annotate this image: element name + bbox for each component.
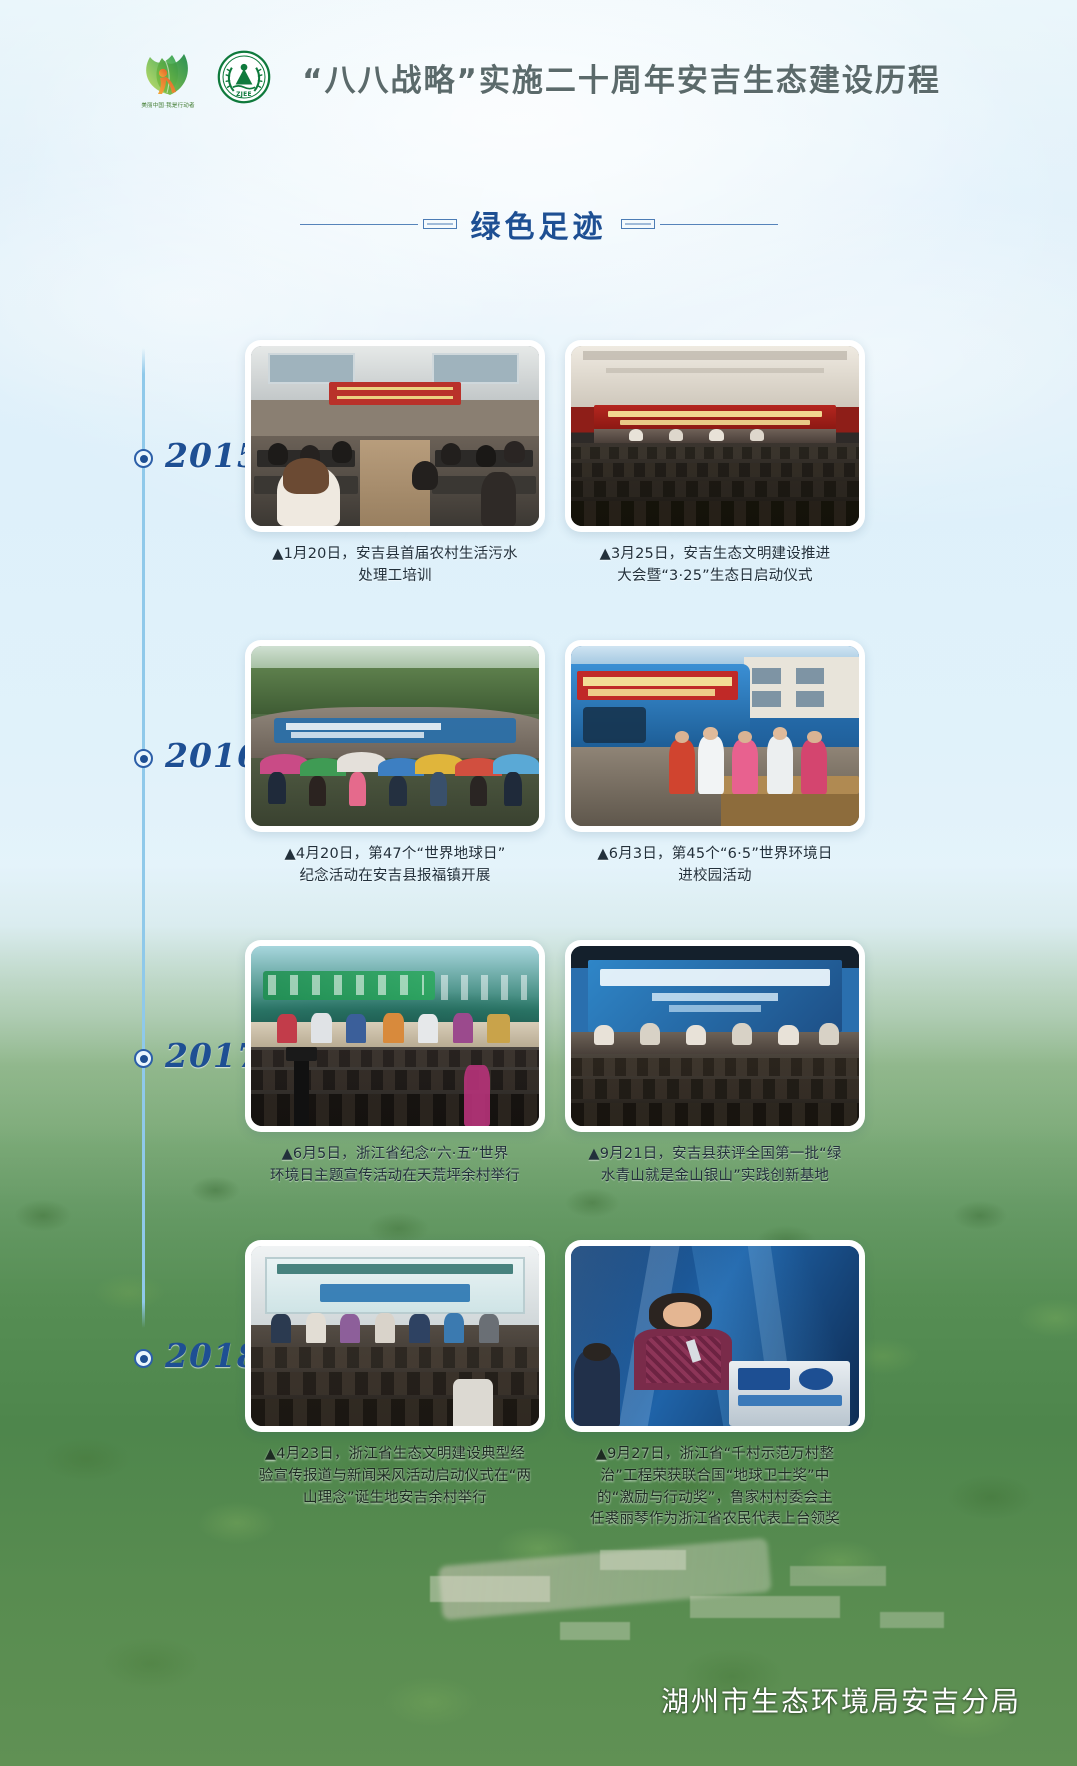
photo-2015-ecocivilization-conference[interactable] [571, 346, 859, 526]
photo-caption: ▲4月20日，第47个“世界地球日” 纪念活动在安吉县报福镇开展 [245, 844, 545, 888]
rule-line [300, 224, 418, 225]
photo-caption: ▲9月27日，浙江省“千村示范万村整 治”工程荣获联合国“地球卫士奖”中 的“激… [565, 1444, 865, 1531]
timeline-row-2015: 2015 [0, 340, 1077, 640]
rule-line [660, 224, 778, 225]
rule-cap-icon [621, 219, 655, 229]
photo-caption: ▲6月3日，第45个“6·5”世界环境日 进校园活动 [565, 844, 865, 888]
timeline-card[interactable]: ▲6月5日，浙江省纪念“六·五”世界 环境日主题宣传活动在天荒坪余村举行 [245, 940, 545, 1188]
timeline-card[interactable]: ▲4月23日，浙江省生态文明建设典型经 验宣传报道与新闻采风活动启动仪式在“两 … [245, 1240, 545, 1509]
photo-2018-un-earth-champion-award[interactable] [571, 1246, 859, 1426]
section-header: 绿色足迹 [0, 200, 1077, 248]
photo-frame [565, 940, 865, 1132]
photo-2017-national-demonstration-base[interactable] [571, 946, 859, 1126]
rule-cap-icon [423, 219, 457, 229]
photo-frame [245, 640, 545, 832]
leaf-person-icon [136, 46, 200, 98]
beautiful-china-action-logo: 美丽中国·我是行动者 [136, 46, 200, 108]
timeline-card[interactable]: ▲9月21日，安吉县获评全国第一批“绿 水青山就是金山银山”实践创新基地 [565, 940, 865, 1188]
timeline-card[interactable]: ▲1月20日，安吉县首届农村生活污水 处理工培训 [245, 340, 545, 588]
timeline-marker-icon [131, 746, 157, 772]
photo-frame [245, 340, 545, 532]
photo-caption: ▲6月5日，浙江省纪念“六·五”世界 环境日主题宣传活动在天荒坪余村举行 [245, 1144, 545, 1188]
timeline-row-2016: 2016 [0, 640, 1077, 940]
photo-frame [565, 1240, 865, 1432]
section-title: 绿色足迹 [471, 202, 607, 246]
timeline-row-2017: 2017 [0, 940, 1077, 1240]
timeline-card[interactable]: ▲4月20日，第47个“世界地球日” 纪念活动在安吉县报福镇开展 [245, 640, 545, 888]
timeline-card[interactable]: ▲9月27日，浙江省“千村示范万村整 治”工程荣获联合国“地球卫士奖”中 的“激… [565, 1240, 865, 1531]
photo-2017-environment-day-yucun[interactable] [251, 946, 539, 1126]
photo-2018-media-campaign-launch[interactable] [251, 1246, 539, 1426]
page-title: “八八战略”实施二十周年安吉生态建设历程 [302, 55, 941, 100]
photo-frame [245, 1240, 545, 1432]
logo-primary-caption: 美丽中国·我是行动者 [139, 100, 198, 108]
photo-caption: ▲1月20日，安吉县首届农村生活污水 处理工培训 [245, 544, 545, 588]
zjee-emblem-logo: ZJEE [216, 49, 272, 105]
timeline-card[interactable]: ▲6月3日，第45个“6·5”世界环境日 进校园活动 [565, 640, 865, 888]
photo-caption: ▲3月25日，安吉生态文明建设推进 大会暨“3·25”生态日启动仪式 [565, 544, 865, 588]
timeline-row-2018: 2018 [0, 1240, 1077, 1570]
photo-frame [245, 940, 545, 1132]
photo-2016-earth-day[interactable] [251, 646, 539, 826]
timeline-card[interactable]: ▲3月25日，安吉生态文明建设推进 大会暨“3·25”生态日启动仪式 [565, 340, 865, 588]
timeline-marker-icon [131, 1046, 157, 1072]
footer-organization: 湖州市生态环境局安吉分局 [661, 1680, 1021, 1720]
photo-frame [565, 340, 865, 532]
poster-header: 美丽中国·我是行动者 ZJEE “八八战略”实施二十周年安吉生态建设历程 [0, 44, 1077, 110]
section-rule-right [621, 219, 778, 229]
photo-caption: ▲9月21日，安吉县获评全国第一批“绿 水青山就是金山银山”实践创新基地 [565, 1144, 865, 1188]
timeline-marker-icon [131, 446, 157, 472]
timeline-marker-icon [131, 1346, 157, 1372]
photo-frame [565, 640, 865, 832]
timeline-rows: 2015 [0, 340, 1077, 1570]
svg-text:ZJEE: ZJEE [236, 91, 252, 98]
photo-caption: ▲4月23日，浙江省生态文明建设典型经 验宣传报道与新闻采风活动启动仪式在“两 … [245, 1444, 545, 1509]
photo-2015-sewage-training[interactable] [251, 346, 539, 526]
photo-2016-environment-day-campus[interactable] [571, 646, 859, 826]
section-rule-left [300, 219, 457, 229]
